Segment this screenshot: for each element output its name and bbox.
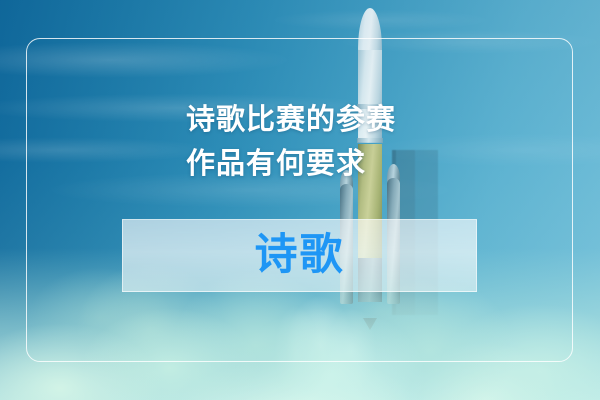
page-title-line-2: 作品有何要求 [186,142,486,186]
poster-canvas: 诗歌比赛的参赛 作品有何要求 诗歌 [0,0,600,400]
keyword-banner[interactable]: 诗歌 [122,219,477,292]
atmospheric-haze [0,0,600,400]
keyword-banner-label: 诗歌 [255,234,345,277]
page-title-line-1: 诗歌比赛的参赛 [186,98,486,142]
page-title: 诗歌比赛的参赛 作品有何要求 [186,98,486,186]
